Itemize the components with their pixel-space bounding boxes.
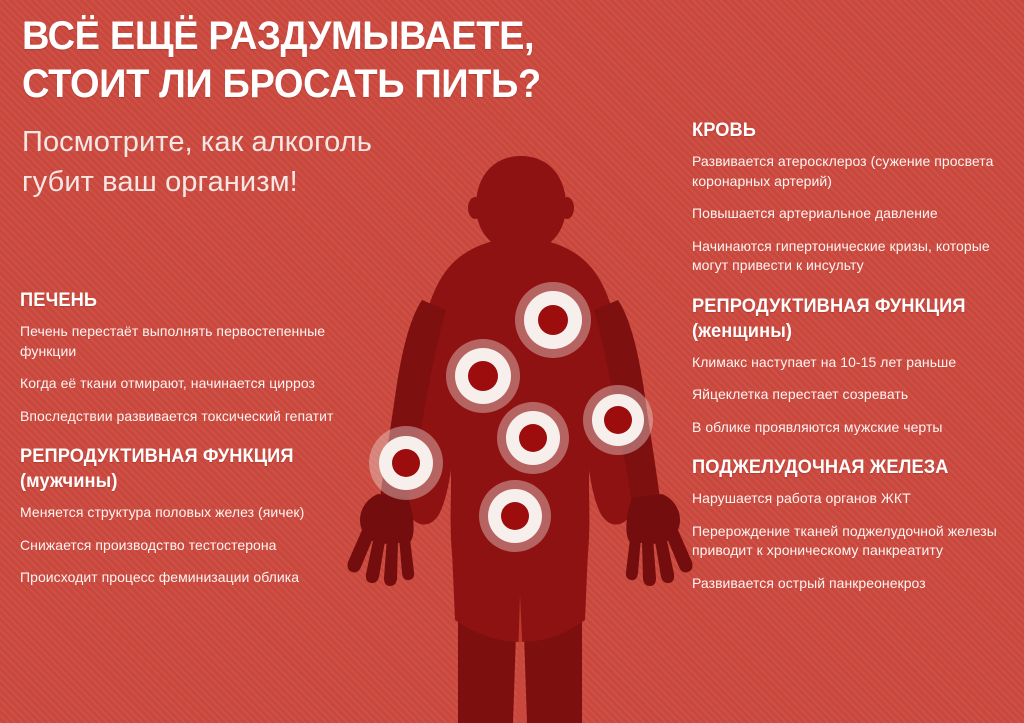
bullet-item: Яйцеклетка перестает созревать (692, 385, 1012, 405)
bullet-item: Происходит процесс феминизации облика (20, 568, 350, 588)
infographic-poster: ВСЁ ЕЩЁ РАЗДУМЫВАЕТЕ, СТОИТ ЛИ БРОСАТЬ П… (0, 0, 1024, 723)
marker-stomach[interactable] (497, 402, 569, 474)
subtitle-line-2: губит ваш организм! (22, 162, 662, 202)
marker-core (604, 406, 632, 434)
page-subtitle: Посмотрите, как алкоголь губит ваш орган… (22, 122, 662, 202)
subtitle-line-1: Посмотрите, как алкоголь (22, 122, 662, 162)
section-heading: ПЕЧЕНЬ (20, 288, 337, 313)
marker-core (501, 502, 529, 530)
bullet-item: Впоследствии развивается токсический геп… (20, 407, 350, 427)
bullet-item: Нарушается работа органов ЖКТ (692, 489, 1012, 509)
bullet-item: Развивается острый панкреонекроз (692, 574, 1012, 594)
marker-core (519, 424, 547, 452)
title-line-1: ВСЁ ЕЩЁ РАЗДУМЫВАЕТЕ, (22, 12, 630, 60)
bullet-item: Меняется структура половых желез (яичек) (20, 503, 350, 523)
bullet-item: Печень перестаёт выполнять первостепенны… (20, 322, 350, 361)
bullet-item: Климакс наступает на 10-15 лет раньше (692, 353, 1012, 373)
marker-heart[interactable] (515, 282, 591, 358)
section-heading: РЕПРОДУКТИВНАЯ ФУНКЦИЯ(женщины) (692, 294, 999, 344)
marker-hand[interactable] (369, 426, 443, 500)
section-heading: КРОВЬ (692, 118, 999, 143)
title-line-2: СТОИТ ЛИ БРОСАТЬ ПИТЬ? (22, 60, 630, 108)
left-text-column: ПЕЧЕНЬПечень перестаёт выполнять первост… (20, 288, 350, 592)
section-кровь: КРОВЬРазвивается атеросклероз (сужение п… (692, 118, 1012, 276)
marker-core (392, 449, 420, 477)
hips (452, 550, 588, 642)
right-hand (626, 494, 693, 586)
section-печень: ПЕЧЕНЬПечень перестаёт выполнять первост… (20, 288, 350, 426)
section-heading: РЕПРОДУКТИВНАЯ ФУНКЦИЯ(мужчины) (20, 444, 337, 494)
bullet-item: Начинаются гипертонические кризы, которы… (692, 237, 1012, 276)
bullet-item: Развивается атеросклероз (сужение просве… (692, 152, 1012, 191)
marker-liver[interactable] (446, 339, 520, 413)
marker-pelvis[interactable] (479, 480, 551, 552)
headline-block: ВСЁ ЕЩЁ РАЗДУМЫВАЕТЕ, СТОИТ ЛИ БРОСАТЬ П… (22, 12, 662, 202)
marker-core (538, 305, 568, 335)
section-heading-sub: (женщины) (692, 319, 999, 344)
bullet-item: Когда её ткани отмирают, начинается цирр… (20, 374, 350, 394)
section-heading-sub: (мужчины) (20, 469, 337, 494)
leg-seam (516, 595, 526, 723)
bullet-item: В облике проявляются мужские черты (692, 418, 1012, 438)
bullet-item: Повышается артериальное давление (692, 204, 1012, 224)
marker-arm[interactable] (583, 385, 653, 455)
left-hand (348, 494, 415, 586)
section-поджелудочная-железа: ПОДЖЕЛУДОЧНАЯ ЖЕЛЕЗАНарушается работа ор… (692, 455, 1012, 593)
page-title: ВСЁ ЕЩЁ РАЗДУМЫВАЕТЕ, СТОИТ ЛИ БРОСАТЬ П… (22, 12, 662, 108)
section-репродуктивная-функция: РЕПРОДУКТИВНАЯ ФУНКЦИЯ(женщины)Климакс н… (692, 294, 1012, 438)
section-репродуктивная-функция: РЕПРОДУКТИВНАЯ ФУНКЦИЯ(мужчины)Меняется … (20, 444, 350, 588)
right-text-column: КРОВЬРазвивается атеросклероз (сужение п… (692, 118, 1012, 597)
bullet-item: Снижается производство тестостерона (20, 536, 350, 556)
section-heading: ПОДЖЕЛУДОЧНАЯ ЖЕЛЕЗА (692, 455, 999, 480)
marker-core (468, 361, 498, 391)
bullet-item: Перерождение тканей поджелудочной железы… (692, 522, 1012, 561)
neck (494, 202, 546, 251)
